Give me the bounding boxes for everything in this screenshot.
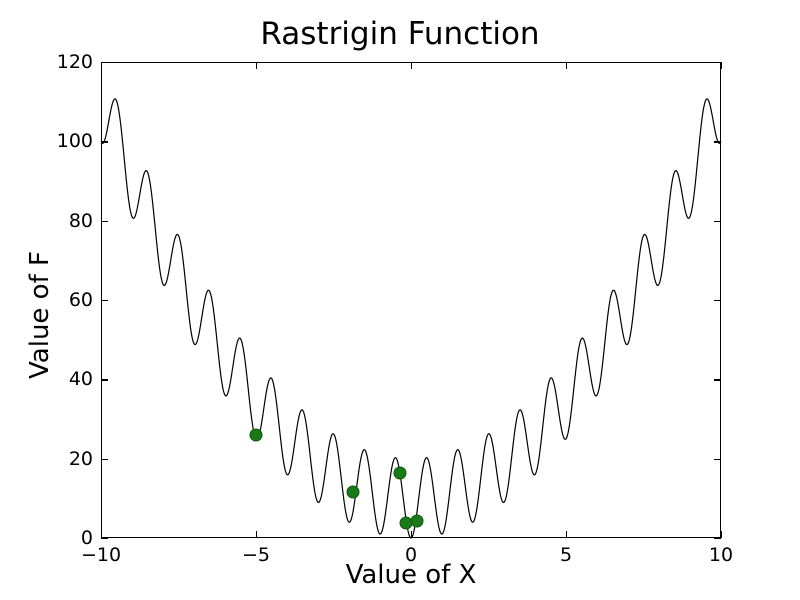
y-tick-right-0 bbox=[714, 538, 721, 539]
y-tick-label-1: 20 bbox=[43, 448, 93, 470]
y-tick-right-1 bbox=[714, 459, 721, 460]
y-tick-right-2 bbox=[714, 379, 721, 380]
y-tick-right-6 bbox=[714, 62, 721, 63]
y-axis-label: Value of F bbox=[25, 215, 55, 415]
data-point bbox=[394, 466, 407, 479]
x-tick-2 bbox=[411, 531, 412, 538]
chart-title: Rastrigin Function bbox=[0, 14, 800, 54]
y-tick-right-3 bbox=[714, 300, 721, 301]
rastrigin-curve bbox=[101, 62, 721, 538]
plot-area bbox=[101, 62, 721, 538]
y-tick-label-6: 120 bbox=[43, 51, 93, 73]
x-tick-top-2 bbox=[411, 62, 412, 69]
data-point bbox=[347, 485, 360, 498]
x-tick-top-4 bbox=[721, 62, 722, 69]
x-tick-1 bbox=[256, 531, 257, 538]
data-point bbox=[411, 514, 424, 527]
y-tick-label-0: 0 bbox=[43, 527, 93, 549]
y-tick-5 bbox=[101, 141, 108, 142]
x-axis-label: Value of X bbox=[101, 560, 721, 590]
x-tick-3 bbox=[566, 531, 567, 538]
x-tick-top-3 bbox=[566, 62, 567, 69]
y-tick-6 bbox=[101, 62, 108, 63]
data-point bbox=[250, 429, 263, 442]
y-tick-3 bbox=[101, 300, 108, 301]
y-tick-4 bbox=[101, 221, 108, 222]
x-tick-top-1 bbox=[256, 62, 257, 69]
y-tick-label-5: 100 bbox=[43, 130, 93, 152]
chart-page: Rastrigin Function −10−50510 02040608010… bbox=[0, 0, 800, 600]
y-tick-right-4 bbox=[714, 221, 721, 222]
y-tick-1 bbox=[101, 459, 108, 460]
x-tick-4 bbox=[721, 531, 722, 538]
y-tick-right-5 bbox=[714, 141, 721, 142]
y-tick-0 bbox=[101, 538, 108, 539]
x-tick-0 bbox=[101, 531, 102, 538]
y-tick-2 bbox=[101, 379, 108, 380]
